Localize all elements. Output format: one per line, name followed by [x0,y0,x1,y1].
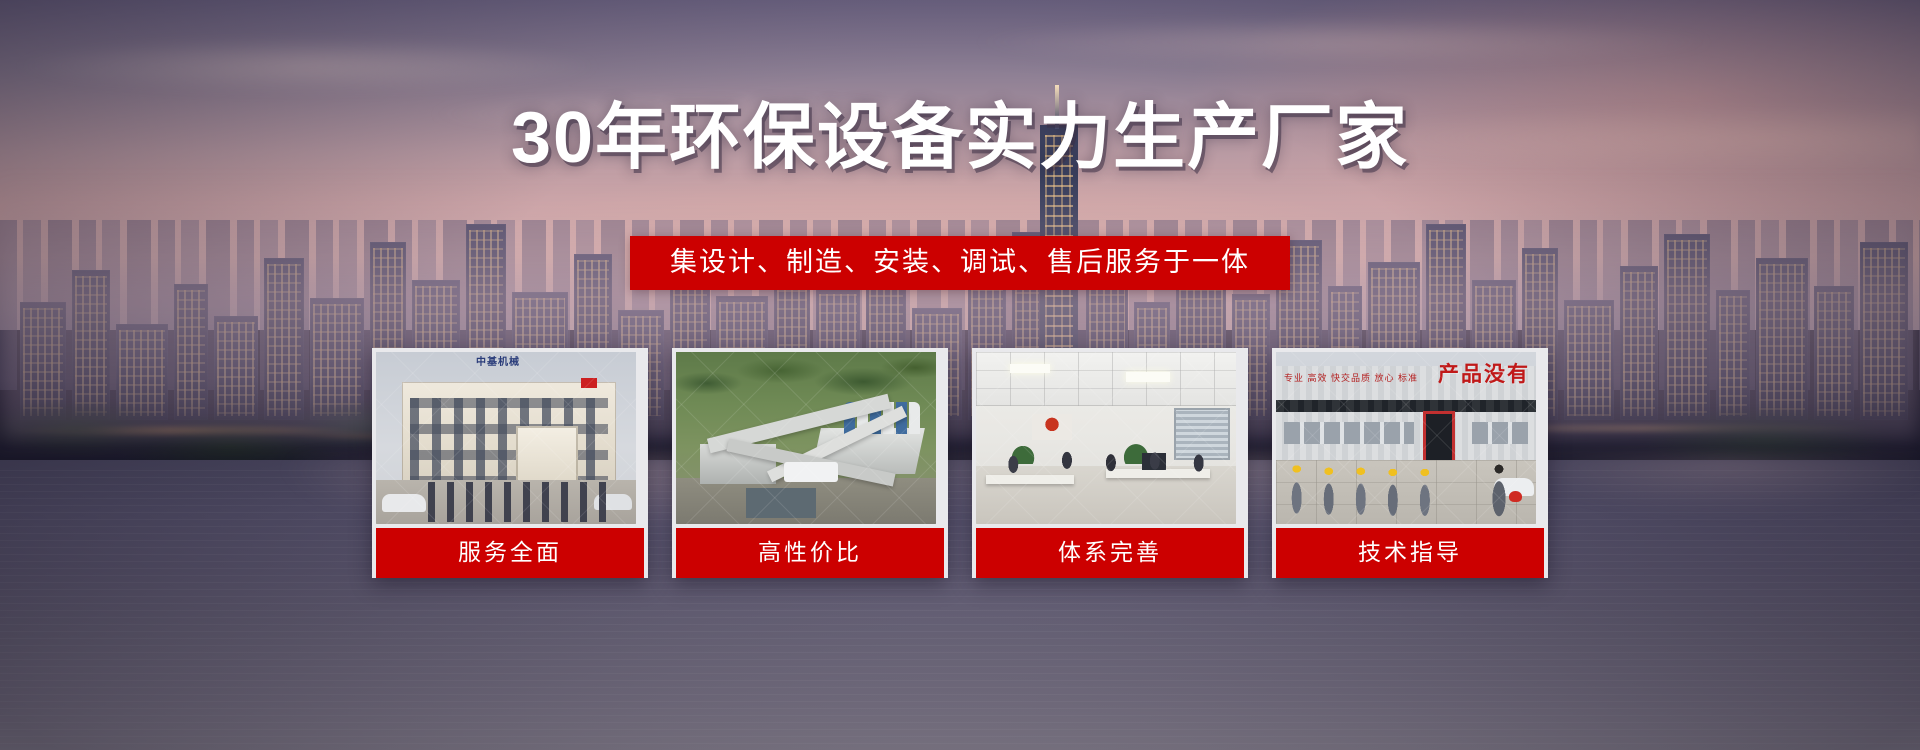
feature-card-caption: 体系完善 [976,524,1244,578]
feature-card[interactable]: 体系完善 [972,348,1248,578]
office-building [402,382,616,490]
staff-row [428,482,614,522]
feature-card-caption: 高性价比 [676,524,944,578]
ceiling-light [1126,372,1170,382]
banner-subtitle-bar: 集设计、制造、安装、调试、售后服务于一体 [630,236,1290,290]
safety-helmet-icon [1509,491,1522,502]
office-ceiling [976,352,1236,406]
banner-headline: 30年环保设备实力生产厂家 [0,102,1920,174]
feature-card[interactable]: 中基机械 服务全面 [372,348,648,578]
feature-card[interactable]: 产品没有 专业 高效 快交品质 放心 标准 技术指导 [1272,348,1548,578]
banner-content: 30年环保设备实力生产厂家 集设计、制造、安装、调试、售后服务于一体 中基机械 [0,0,1920,750]
office-interior-photo [976,352,1236,524]
feature-card-list: 中基机械 服务全面 [372,348,1548,578]
factory-door [1426,414,1452,460]
hero-banner: 30年环保设备实力生产厂家 集设计、制造、安装、调试、售后服务于一体 中基机械 [0,0,1920,750]
factory-slogan-small: 专业 高效 快交品质 放心 标准 [1284,372,1418,384]
factory-slogan-large: 产品没有 [1438,364,1530,385]
company-office-building-photo: 中基机械 [376,352,636,524]
feature-card-caption: 服务全面 [376,524,644,578]
wall-logo [1032,414,1072,440]
factory-yard-workers-photo: 产品没有 专业 高效 快交品质 放心 标准 [1276,352,1536,524]
flag-icon [581,378,597,388]
building-sign-text: 中基机械 [450,356,546,369]
office-staff [984,444,1228,478]
feature-card[interactable]: 高性价比 [672,348,948,578]
factory-windows [1284,422,1414,444]
plant-shed [746,488,816,518]
parked-car [382,494,426,512]
worker-row [1286,462,1464,520]
supervisor [1488,464,1510,520]
ceiling-light [1010,364,1050,373]
truck [784,462,838,482]
aerial-plant-photo [676,352,936,524]
feature-card-caption: 技术指导 [1276,524,1544,578]
factory-windows [1472,422,1528,444]
factory-window-band [1276,400,1536,412]
